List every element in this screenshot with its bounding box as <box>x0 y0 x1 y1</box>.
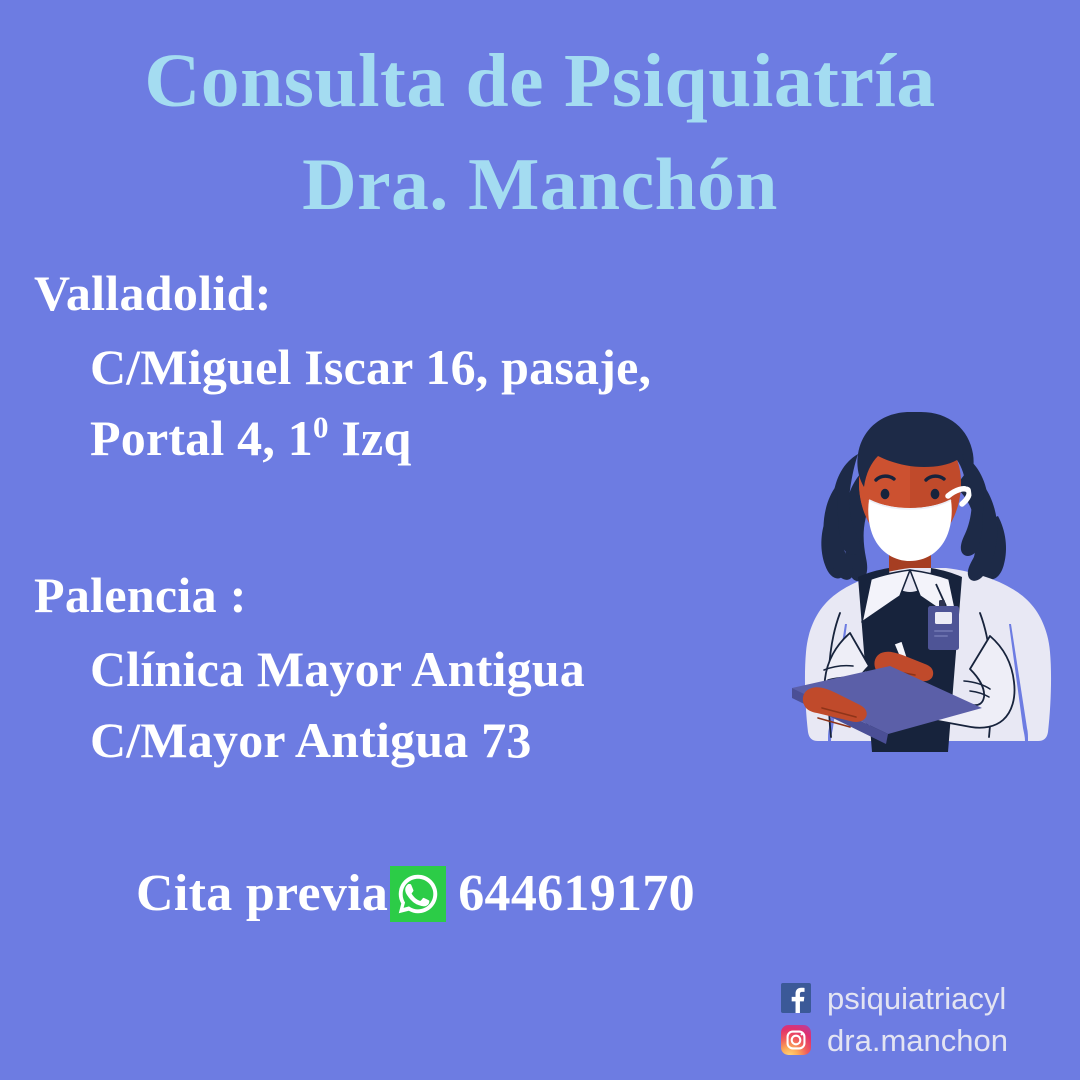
eye-right <box>931 489 940 499</box>
facebook-handle[interactable]: psiquiatriacyl <box>827 983 1006 1014</box>
address-line: C/Miguel Iscar 16, pasaje, <box>90 332 651 403</box>
address-lines-valladolid: C/Miguel Iscar 16, pasaje, Portal 4, 10 … <box>34 332 651 474</box>
poster-canvas: Consulta de Psiquiatría Dra. Manchón Val… <box>0 0 1080 1080</box>
location-valladolid: Valladolid: C/Miguel Iscar 16, pasaje, P… <box>34 264 651 474</box>
whatsapp-icon[interactable] <box>390 866 446 922</box>
social-row-facebook[interactable]: psiquiatriacyl <box>781 978 1008 1018</box>
title-line-1: Consulta de Psiquiatría <box>0 26 1080 137</box>
social-row-instagram[interactable]: dra.manchon <box>781 1020 1008 1060</box>
doctor-illustration <box>758 408 1080 798</box>
appointment-phone[interactable]: 644619170 <box>458 868 695 920</box>
city-label-valladolid: Valladolid: <box>34 264 651 322</box>
facebook-icon[interactable] <box>781 983 811 1013</box>
appointment-label: Cita previa <box>136 868 388 920</box>
address-line: Portal 4, 10 Izq <box>90 403 651 474</box>
address-line: C/Mayor Antigua 73 <box>90 705 585 776</box>
ordinal-tail: Izq <box>329 410 412 466</box>
social-footer: psiquiatriacyl dra.manchon <box>781 978 1008 1062</box>
appointment-row: Cita previa 644619170 <box>136 866 695 922</box>
address-line-text: Portal 4, 1 <box>90 410 313 466</box>
address-line: Clínica Mayor Antigua <box>90 634 585 705</box>
city-label-palencia: Palencia : <box>34 566 585 624</box>
instagram-handle[interactable]: dra.manchon <box>827 1025 1008 1056</box>
eye-left <box>881 489 890 499</box>
ordinal-superscript: 0 <box>313 409 329 444</box>
location-palencia: Palencia : Clínica Mayor Antigua C/Mayor… <box>34 566 585 776</box>
address-lines-palencia: Clínica Mayor Antigua C/Mayor Antigua 73 <box>34 634 585 776</box>
page-title: Consulta de Psiquiatría Dra. Manchón <box>0 26 1080 239</box>
doctor-figure <box>792 412 1051 752</box>
title-line-2: Dra. Manchón <box>0 131 1080 239</box>
instagram-icon[interactable] <box>781 1025 811 1055</box>
